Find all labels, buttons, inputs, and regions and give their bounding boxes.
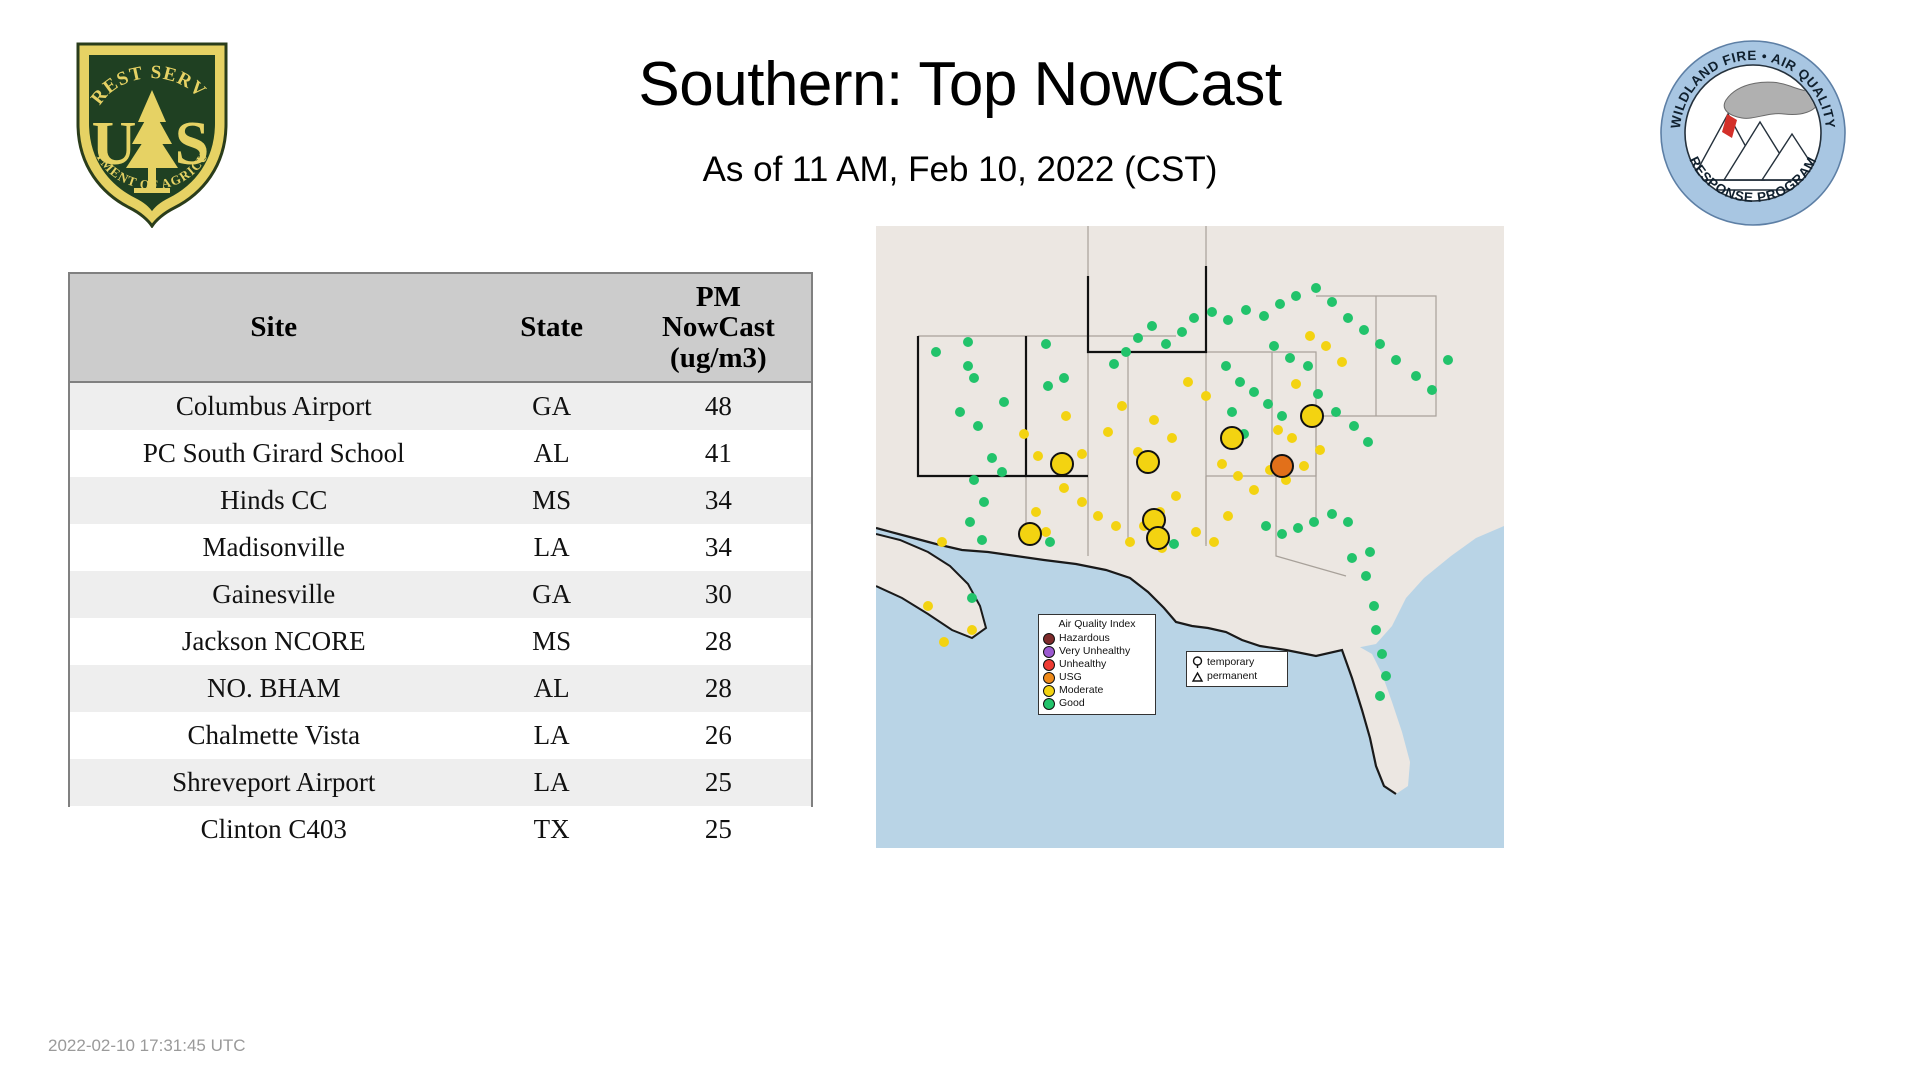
legend-label-temporary: temporary [1207, 656, 1254, 668]
cell-state: LA [478, 759, 626, 806]
cell-site: Columbus Airport [70, 382, 478, 430]
legend-item-temporary: temporary [1191, 655, 1283, 669]
table-row[interactable]: Shreveport AirportLA25 [70, 759, 811, 806]
cell-site: Shreveport Airport [70, 759, 478, 806]
aqi-legend-label: Hazardous [1059, 633, 1110, 644]
air-quality-monitor-map[interactable]: Air Quality Index HazardousVery Unhealth… [876, 226, 1504, 848]
aqi-legend-label: Good [1059, 698, 1085, 709]
table-row[interactable]: Chalmette VistaLA26 [70, 712, 811, 759]
pm-header-line-2: NowCast [626, 312, 811, 342]
aqi-legend-item: Hazardous [1043, 632, 1151, 645]
legend-label-permanent: permanent [1207, 670, 1257, 682]
table-row[interactable]: MadisonvilleLA34 [70, 524, 811, 571]
aqi-legend-label: USG [1059, 672, 1082, 683]
legend-item-permanent: permanent [1191, 669, 1283, 683]
generated-timestamp: 2022-02-10 17:31:45 UTC [48, 1036, 246, 1056]
column-header-site: Site [70, 274, 478, 382]
table-row[interactable]: NO. BHAMAL28 [70, 665, 811, 712]
cell-pm-nowcast: 48 [626, 382, 811, 430]
cell-pm-nowcast: 25 [626, 806, 811, 853]
table-row[interactable]: Clinton C403TX25 [70, 806, 811, 853]
cell-pm-nowcast: 25 [626, 759, 811, 806]
page-title: Southern: Top NowCast [0, 48, 1920, 122]
cell-state: MS [478, 618, 626, 665]
cell-state: GA [478, 382, 626, 430]
cell-pm-nowcast: 28 [626, 665, 811, 712]
cell-state: TX [478, 806, 626, 853]
cell-pm-nowcast: 30 [626, 571, 811, 618]
aqi-legend-rows: HazardousVery UnhealthyUnhealthyUSGModer… [1043, 632, 1151, 710]
aqi-legend-label: Unhealthy [1059, 659, 1106, 670]
top-nowcast-table: Site State PM NowCast (ug/m3) Columbus A… [70, 274, 811, 853]
cell-site: Madisonville [70, 524, 478, 571]
aqi-color-swatch-icon [1043, 685, 1055, 697]
cell-site: PC South Girard School [70, 430, 478, 477]
wildland-fire-air-quality-seal-logo: WILDLAND FIRE • AIR QUALITY RESPONSE PRO… [1658, 38, 1848, 228]
cell-site: NO. BHAM [70, 665, 478, 712]
aqi-color-swatch-icon [1043, 659, 1055, 671]
pm-header-line-3: (ug/m3) [626, 343, 811, 373]
cell-site: Clinton C403 [70, 806, 478, 853]
cell-site: Hinds CC [70, 477, 478, 524]
cell-state: AL [478, 430, 626, 477]
aqi-legend-item: USG [1043, 671, 1151, 684]
table-body: Columbus AirportGA48PC South Girard Scho… [70, 382, 811, 853]
cell-pm-nowcast: 26 [626, 712, 811, 759]
aqi-legend-label: Very Unhealthy [1059, 646, 1130, 657]
cell-site: Jackson NCORE [70, 618, 478, 665]
aqi-color-swatch-icon [1043, 672, 1055, 684]
table-row[interactable]: Hinds CCMS34 [70, 477, 811, 524]
cell-pm-nowcast: 34 [626, 524, 811, 571]
cell-site: Gainesville [70, 571, 478, 618]
cell-state: MS [478, 477, 626, 524]
cell-state: LA [478, 712, 626, 759]
column-header-pm-nowcast: PM NowCast (ug/m3) [626, 274, 811, 382]
aqi-legend-item: Unhealthy [1043, 658, 1151, 671]
table-row[interactable]: PC South Girard SchoolAL41 [70, 430, 811, 477]
cell-state: LA [478, 524, 626, 571]
pm-header-line-1: PM [626, 282, 811, 312]
triangle-marker-icon [1191, 670, 1204, 683]
aqi-legend-title: Air Quality Index [1043, 618, 1151, 630]
map-graphic [876, 226, 1504, 848]
cell-state: GA [478, 571, 626, 618]
aqi-color-swatch-icon [1043, 633, 1055, 645]
circle-marker-icon [1191, 656, 1204, 669]
aqi-legend-label: Moderate [1059, 685, 1103, 696]
table-row[interactable]: Jackson NCOREMS28 [70, 618, 811, 665]
cell-pm-nowcast: 41 [626, 430, 811, 477]
aqi-color-swatch-icon [1043, 698, 1055, 710]
table-row[interactable]: Columbus AirportGA48 [70, 382, 811, 430]
table-header-row: Site State PM NowCast (ug/m3) [70, 274, 811, 382]
top-nowcast-table-panel: Site State PM NowCast (ug/m3) Columbus A… [68, 272, 813, 807]
aqi-legend-item: Good [1043, 697, 1151, 710]
aqi-legend-item: Moderate [1043, 684, 1151, 697]
cell-site: Chalmette Vista [70, 712, 478, 759]
column-header-state: State [478, 274, 626, 382]
page-header: FOREST SERVICE U S DEPARTMENT OF AGRICUL… [0, 0, 1920, 220]
marker-type-legend: temporary permanent [1186, 651, 1288, 687]
aqi-legend: Air Quality Index HazardousVery Unhealth… [1038, 614, 1156, 715]
page-subtitle: As of 11 AM, Feb 10, 2022 (CST) [0, 148, 1920, 192]
table-row[interactable]: GainesvilleGA30 [70, 571, 811, 618]
cell-state: AL [478, 665, 626, 712]
cell-pm-nowcast: 28 [626, 618, 811, 665]
cell-pm-nowcast: 34 [626, 477, 811, 524]
aqi-legend-item: Very Unhealthy [1043, 645, 1151, 658]
aqi-color-swatch-icon [1043, 646, 1055, 658]
